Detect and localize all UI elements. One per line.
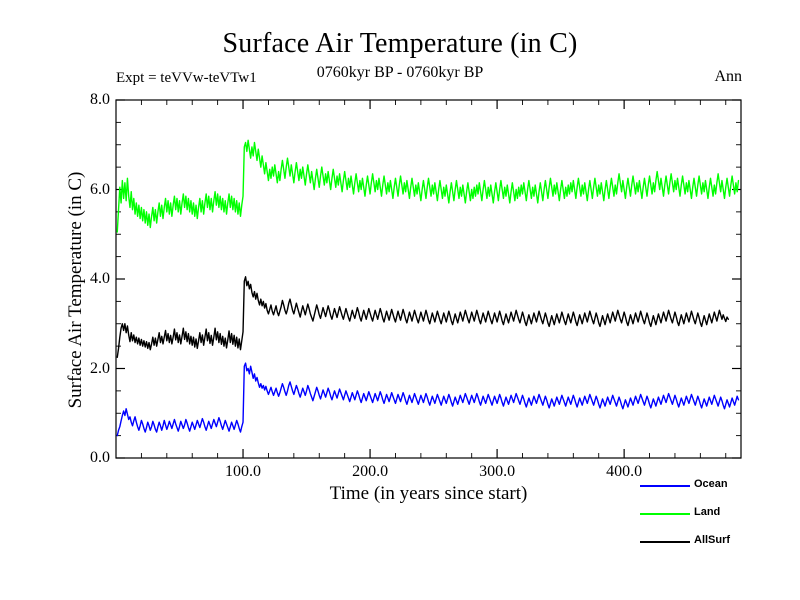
legend-label-allsurf: AllSurf xyxy=(694,534,730,546)
legend-swatch-ocean xyxy=(640,485,690,487)
series-line-ocean xyxy=(117,363,738,436)
legend-item-land: Land xyxy=(640,506,800,534)
figure-root: Surface Air Temperature (in C) 0760kyr B… xyxy=(0,0,800,600)
legend-swatch-allsurf xyxy=(640,541,690,543)
legend-label-ocean: Ocean xyxy=(694,478,728,490)
axis-ticks xyxy=(116,100,741,458)
legend-item-ocean: Ocean xyxy=(640,478,800,506)
legend-label-land: Land xyxy=(694,506,720,518)
chart-legend: Ocean Land AllSurf xyxy=(640,478,800,562)
legend-swatch-land xyxy=(640,513,690,515)
legend-item-allsurf: AllSurf xyxy=(640,534,800,562)
series-line-allsurf xyxy=(117,277,728,358)
plot-frame xyxy=(116,100,741,458)
series-line-land xyxy=(117,140,738,232)
